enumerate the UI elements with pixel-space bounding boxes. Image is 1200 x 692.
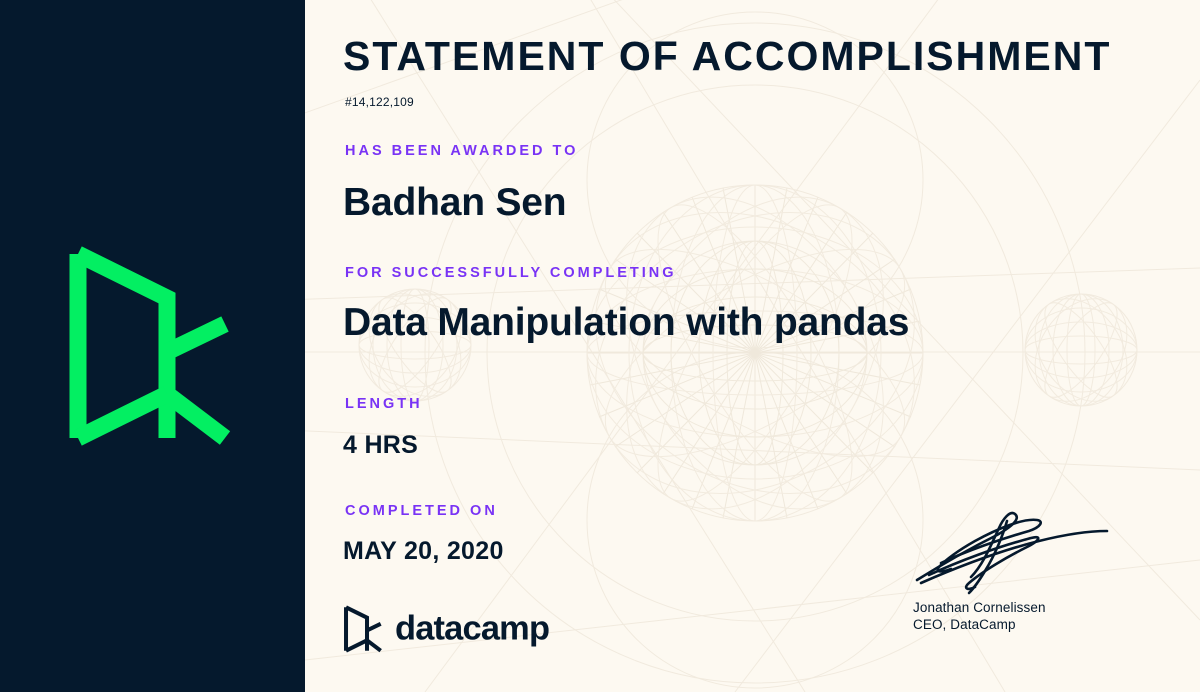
length-value: 4 HRS — [343, 433, 418, 458]
certificate-content: STATEMENT OF ACCOMPLISHMENT #14,122,109 … — [305, 0, 1200, 692]
recipient-name: Badhan Sen — [343, 183, 566, 222]
course-label: FOR SUCCESSFULLY COMPLETING — [345, 265, 677, 281]
datacamp-monogram-icon — [343, 604, 383, 654]
completed-on-value: MAY 20, 2020 — [343, 539, 504, 564]
signature-block: Jonathan Cornelissen CEO, DataCamp — [901, 505, 1161, 634]
svg-text:datacamp: datacamp — [395, 609, 549, 647]
datacamp-logo-lockup: datacamp — [343, 604, 555, 654]
certificate: STATEMENT OF ACCOMPLISHMENT #14,122,109 … — [0, 0, 1200, 692]
course-name: Data Manipulation with pandas — [343, 303, 909, 342]
datacamp-wordmark: datacamp — [395, 609, 555, 649]
signature-name: Jonathan Cornelissen — [913, 600, 1161, 617]
signature-role: CEO, DataCamp — [913, 617, 1161, 634]
length-label: LENGTH — [345, 396, 423, 412]
completed-on-label: COMPLETED ON — [345, 503, 498, 519]
left-brand-panel — [0, 0, 305, 692]
datacamp-monogram-icon — [67, 240, 233, 452]
page-title: STATEMENT OF ACCOMPLISHMENT — [343, 36, 1111, 77]
certificate-body: STATEMENT OF ACCOMPLISHMENT #14,122,109 … — [305, 0, 1200, 692]
awarded-to-label: HAS BEEN AWARDED TO — [345, 143, 578, 159]
certificate-id: #14,122,109 — [345, 95, 414, 109]
signature-icon — [911, 505, 1116, 600]
